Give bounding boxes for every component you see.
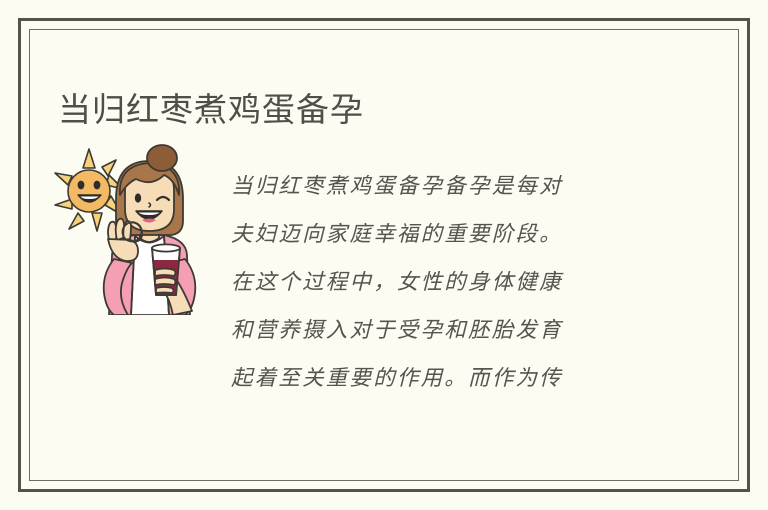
body-line-3: 在这个过程中，女性的身体健康 [231,259,643,307]
article-card: 当归红枣煮鸡蛋备孕 [0,0,768,510]
body-line-4: 和营养摄入对于受孕和胚胎发育 [231,307,643,355]
body-line-2: 夫妇迈向家庭幸福的重要阶段。 [231,211,643,259]
page-title: 当归红枣煮鸡蛋备孕 [58,88,364,132]
woman-figure [104,145,196,315]
article-body: 当归红枣煮鸡蛋备孕备孕是每对 夫妇迈向家庭幸福的重要阶段。 在这个过程中，女性的… [231,163,643,403]
sun-icon [55,149,123,231]
body-line-1: 当归红枣煮鸡蛋备孕备孕是每对 [231,163,643,211]
article-illustration [52,143,217,315]
body-line-5: 起着至关重要的作用。而作为传 [231,355,643,403]
